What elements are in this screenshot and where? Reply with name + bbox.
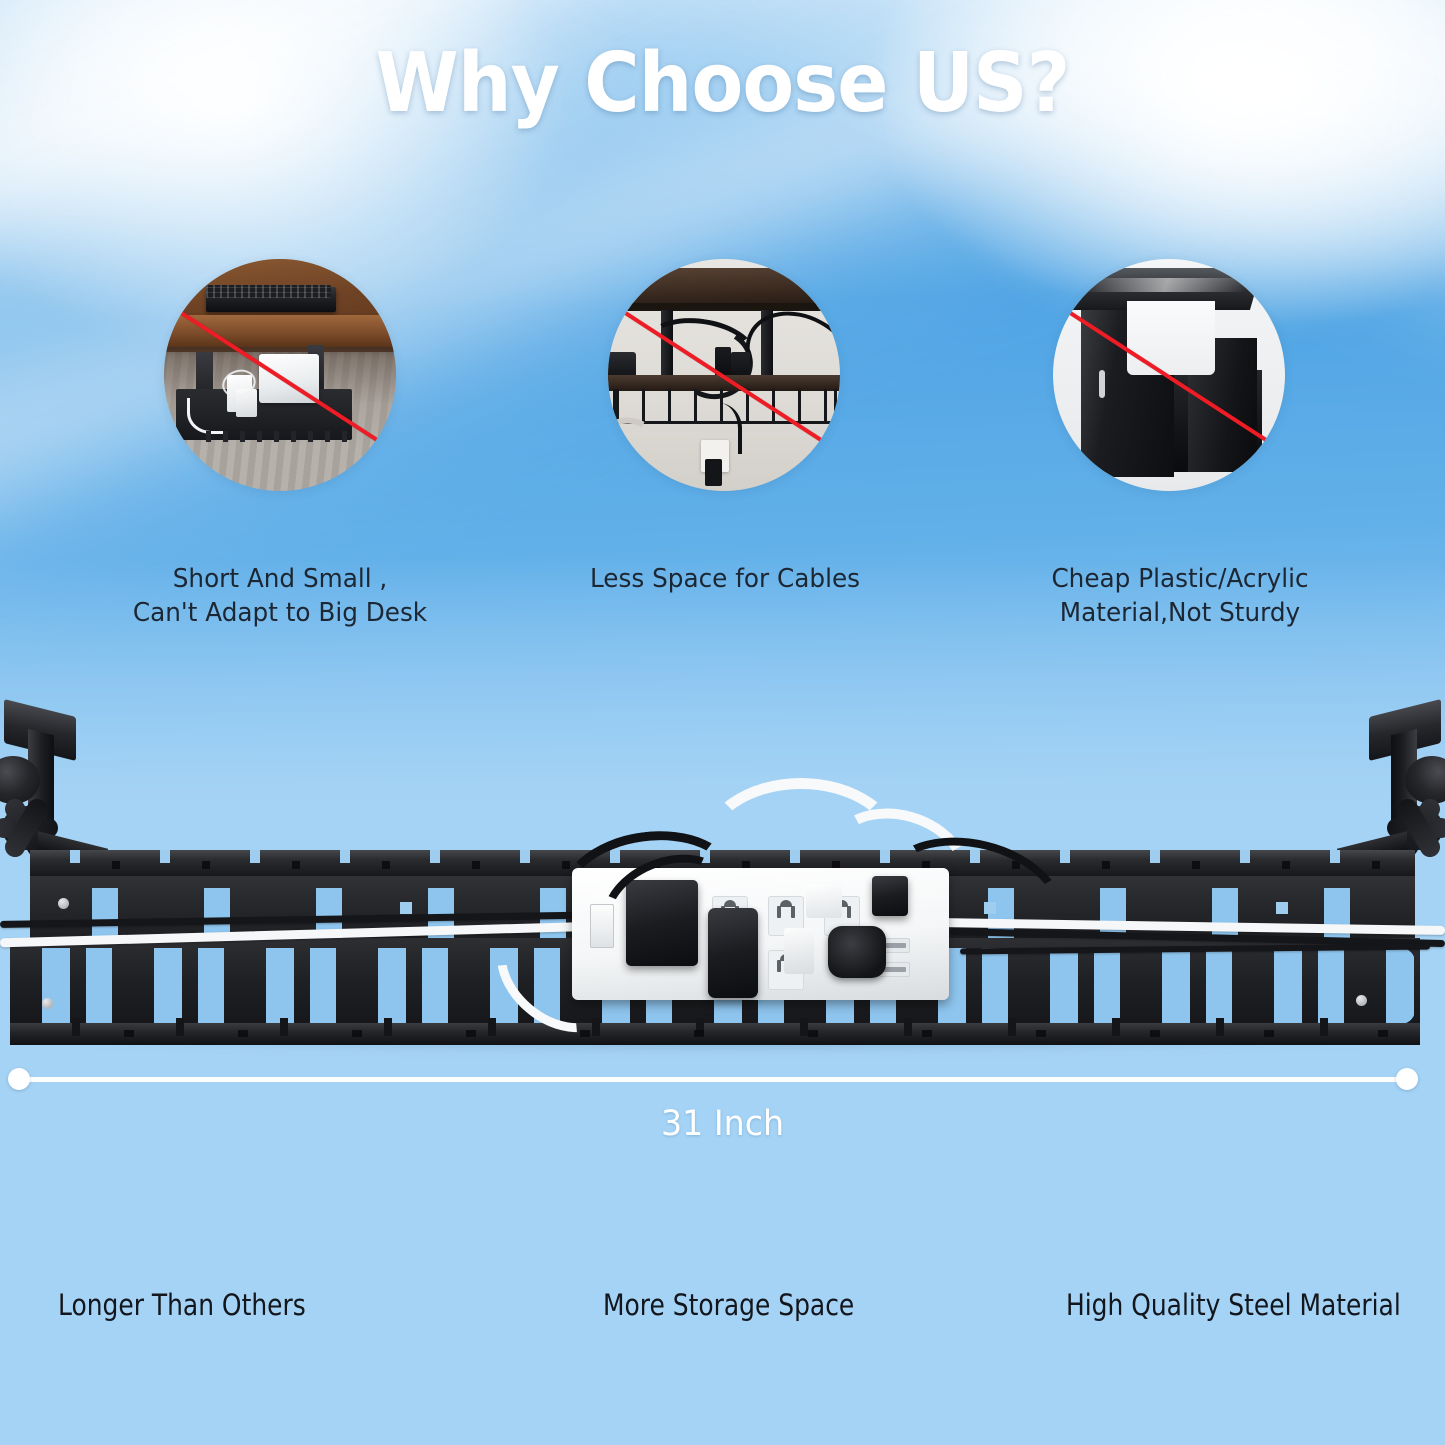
desk-edge [608, 303, 840, 311]
caption-line-1: Cheap Plastic/Acrylic [971, 562, 1389, 596]
tray-screw-upper-left [58, 898, 69, 909]
comparison-caption-cheap-plastic-acrylic: Cheap Plastic/Acrylic Material,Not Sturd… [971, 562, 1389, 631]
comparison-image-short-and-small [164, 259, 396, 491]
mounting-bracket-right [1339, 708, 1445, 856]
product-infographic: Why Choose US? [0, 0, 1445, 1445]
comparison-image-less-space-for-cables [608, 259, 840, 491]
bracket-slot [1099, 370, 1105, 398]
page-title: Why Choose US? [58, 36, 1387, 131]
product-image-cable-tray [0, 690, 1445, 1090]
feature-label-longer-than-others: Longer Than Others [58, 1288, 306, 1322]
dimension-endpoint-right [1396, 1068, 1418, 1090]
feature-label-high-quality-steel-material: High Quality Steel Material [1066, 1288, 1401, 1322]
dimension-endpoint-left [8, 1068, 30, 1090]
comparison-caption-less-space-for-cables: Less Space for Cables [511, 562, 939, 596]
desktop-surface [164, 315, 396, 347]
dimension-line [24, 1077, 1402, 1082]
usb-contact [882, 967, 906, 972]
bracket-notch [1127, 301, 1215, 375]
desk-slab [608, 268, 840, 305]
dimension-label: 31 Inch [36, 1104, 1409, 1144]
caption-line-2: Can't Adapt to Big Desk [71, 596, 489, 630]
mounting-bracket-left [0, 708, 106, 856]
black-round-plug [828, 926, 886, 978]
caption-line-2: Material,Not Sturdy [971, 596, 1389, 630]
tray-flange-holes [20, 1030, 1420, 1037]
outlet-plug [705, 459, 721, 487]
caption-line-1: Short And Small , [71, 562, 489, 596]
comparison-caption-short-and-small: Short And Small , Can't Adapt to Big Des… [71, 562, 489, 631]
tray-screw-lower-left [42, 998, 53, 1009]
comparison-image-cheap-plastic-acrylic [1053, 259, 1285, 491]
tray-hooks [206, 431, 350, 443]
tray-screw-lower-right [1356, 995, 1367, 1006]
keyboard-keys [206, 285, 331, 299]
feature-label-more-storage-space: More Storage Space [603, 1288, 854, 1322]
bracket-highlight [1083, 278, 1249, 292]
caption-line-1: Less Space for Cables [511, 562, 939, 596]
white-plug-2 [784, 928, 814, 974]
